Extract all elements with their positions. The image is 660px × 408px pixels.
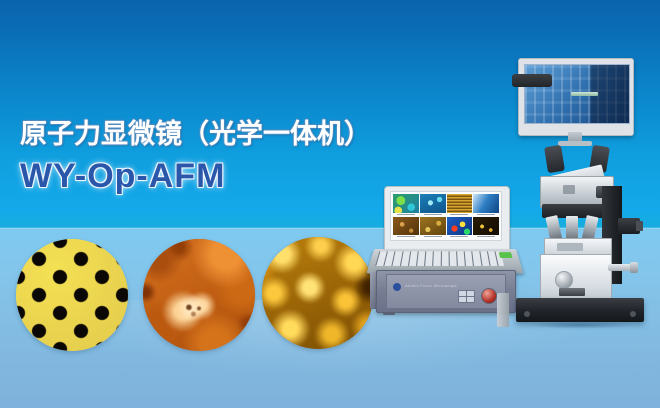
afm-controller-unit: Atomic Force Microscope (376, 270, 516, 313)
sample-image-topography (143, 239, 255, 351)
stage-base (516, 298, 644, 322)
topography-craters (143, 239, 255, 351)
granular-surface (262, 237, 374, 349)
controller-feet (381, 312, 511, 315)
scanner-head-window (557, 243, 583, 251)
dot-lattice-shading (16, 239, 128, 351)
scan-thumbnail-1 (393, 194, 419, 216)
scanner-adjust-dial[interactable] (555, 271, 573, 289)
scanner-nameplate (559, 288, 585, 296)
controller-front-panel: Atomic Force Microscope (386, 274, 506, 309)
controller-button-pad[interactable] (458, 290, 475, 303)
product-banner: 原子力显微镜（光学一体机） WY-Op-AFM (0, 0, 660, 408)
scan-thumbnail-4 (473, 194, 499, 216)
afm-optical-microscope (498, 58, 654, 330)
laptop-and-controller: Atomic Force Microscope (374, 186, 516, 311)
controller-button[interactable] (459, 291, 466, 296)
controller-button[interactable] (467, 291, 474, 296)
product-title-chinese: 原子力显微镜（光学一体机） (20, 118, 371, 151)
headline-group: 原子力显微镜（光学一体机） WY-Op-AFM (20, 118, 371, 196)
sample-image-granular (262, 237, 374, 349)
afm-scanner-module (540, 254, 612, 302)
keyboard-keys (375, 251, 504, 266)
base-foot (630, 311, 636, 317)
scan-thumbnail-2 (420, 194, 446, 216)
product-model-name: WY-Op-AFM (20, 156, 371, 196)
monitor-screen (524, 64, 630, 124)
head-brand-plate (563, 185, 575, 194)
controller-button[interactable] (459, 297, 466, 302)
controller-button[interactable] (467, 297, 474, 302)
scan-thumbnail-3 (447, 194, 473, 216)
sample-image-dot-array (16, 239, 128, 351)
controller-label: Atomic Force Microscope (405, 283, 457, 288)
live-image-feature (571, 92, 598, 96)
scanner-arm-knob[interactable] (630, 262, 638, 273)
display-monitor (518, 58, 634, 136)
side-port-cap (636, 221, 643, 231)
eyepiece-bridge (512, 74, 552, 87)
partial-equipment-edge (497, 293, 509, 327)
wy-logo-icon (393, 283, 401, 291)
eyepiece-left (544, 145, 565, 173)
base-shadow (510, 320, 650, 330)
power-knob[interactable] (481, 288, 497, 304)
base-foot (524, 311, 530, 317)
laptop-lid (384, 186, 510, 254)
